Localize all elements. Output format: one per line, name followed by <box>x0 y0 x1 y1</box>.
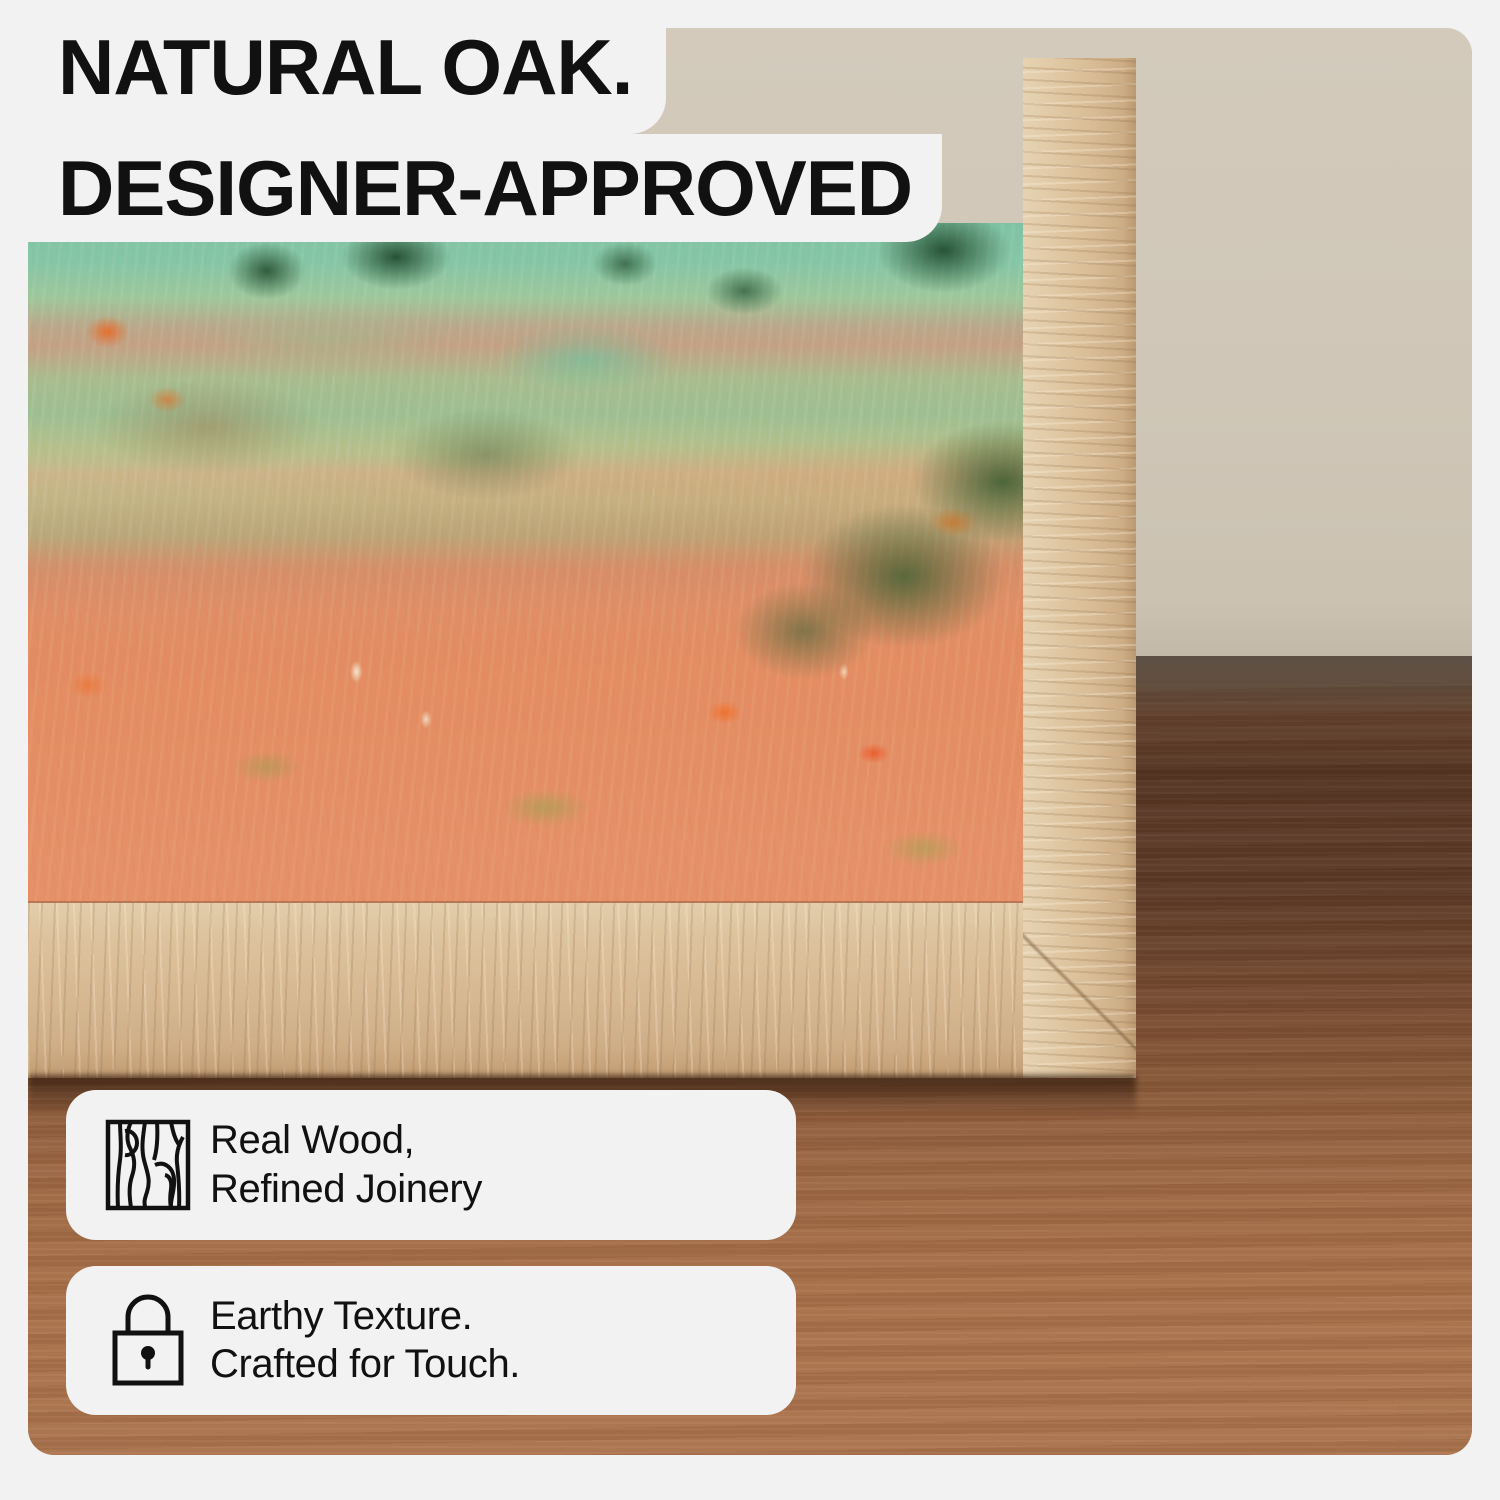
headline-line-2: DESIGNER-APPROVED <box>0 134 942 242</box>
feature-badge-text: Earthy Texture. Crafted for Touch. <box>210 1292 520 1390</box>
landscape-painting <box>28 223 1023 903</box>
product-marketing-image: NATURAL OAK. DESIGNER-APPROVED <box>0 0 1500 1500</box>
padlock-icon <box>100 1292 196 1388</box>
feature-line-1: Real Wood, <box>210 1116 482 1165</box>
feature-badge-real-wood: Real Wood, Refined Joinery <box>66 1090 796 1240</box>
frame-bottom-rail <box>28 903 1136 1078</box>
feature-badge-earthy-texture: Earthy Texture. Crafted for Touch. <box>66 1266 796 1416</box>
feature-line-1: Earthy Texture. <box>210 1292 520 1341</box>
feature-line-2: Crafted for Touch. <box>210 1340 520 1389</box>
feature-badge-list: Real Wood, Refined Joinery Earthy Textur… <box>66 1090 796 1441</box>
feature-badge-text: Real Wood, Refined Joinery <box>210 1116 482 1214</box>
headline-line-1: NATURAL OAK. <box>0 0 666 134</box>
feature-line-2: Refined Joinery <box>210 1165 482 1214</box>
wood-grain-icon <box>100 1117 196 1213</box>
frame-mitre-joint <box>1023 903 1136 1078</box>
oak-picture-frame <box>28 223 1136 1123</box>
